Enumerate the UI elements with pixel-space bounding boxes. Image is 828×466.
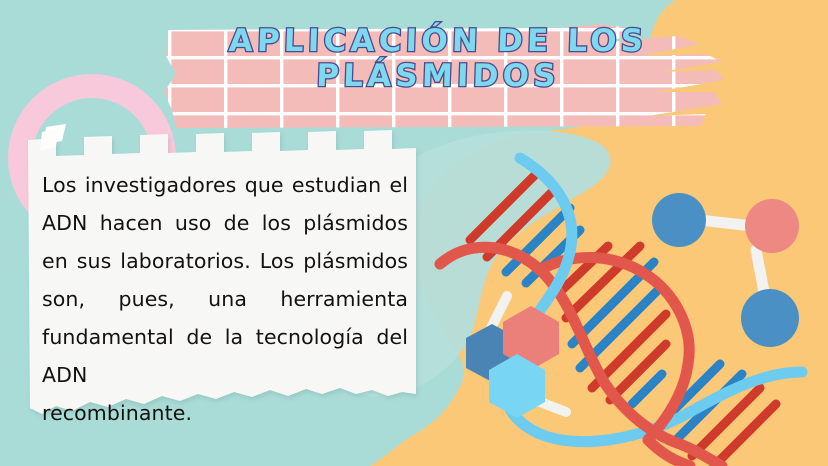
slide-canvas: APLICACIÓN DE LOS PLÁSMIDOS Los investig…	[0, 0, 828, 466]
atom-salmon	[745, 199, 799, 253]
atom-blue-1	[652, 193, 706, 247]
atom-blue-2	[741, 289, 799, 347]
dna-illustration	[0, 0, 828, 466]
hexagon-molecule	[466, 296, 566, 418]
